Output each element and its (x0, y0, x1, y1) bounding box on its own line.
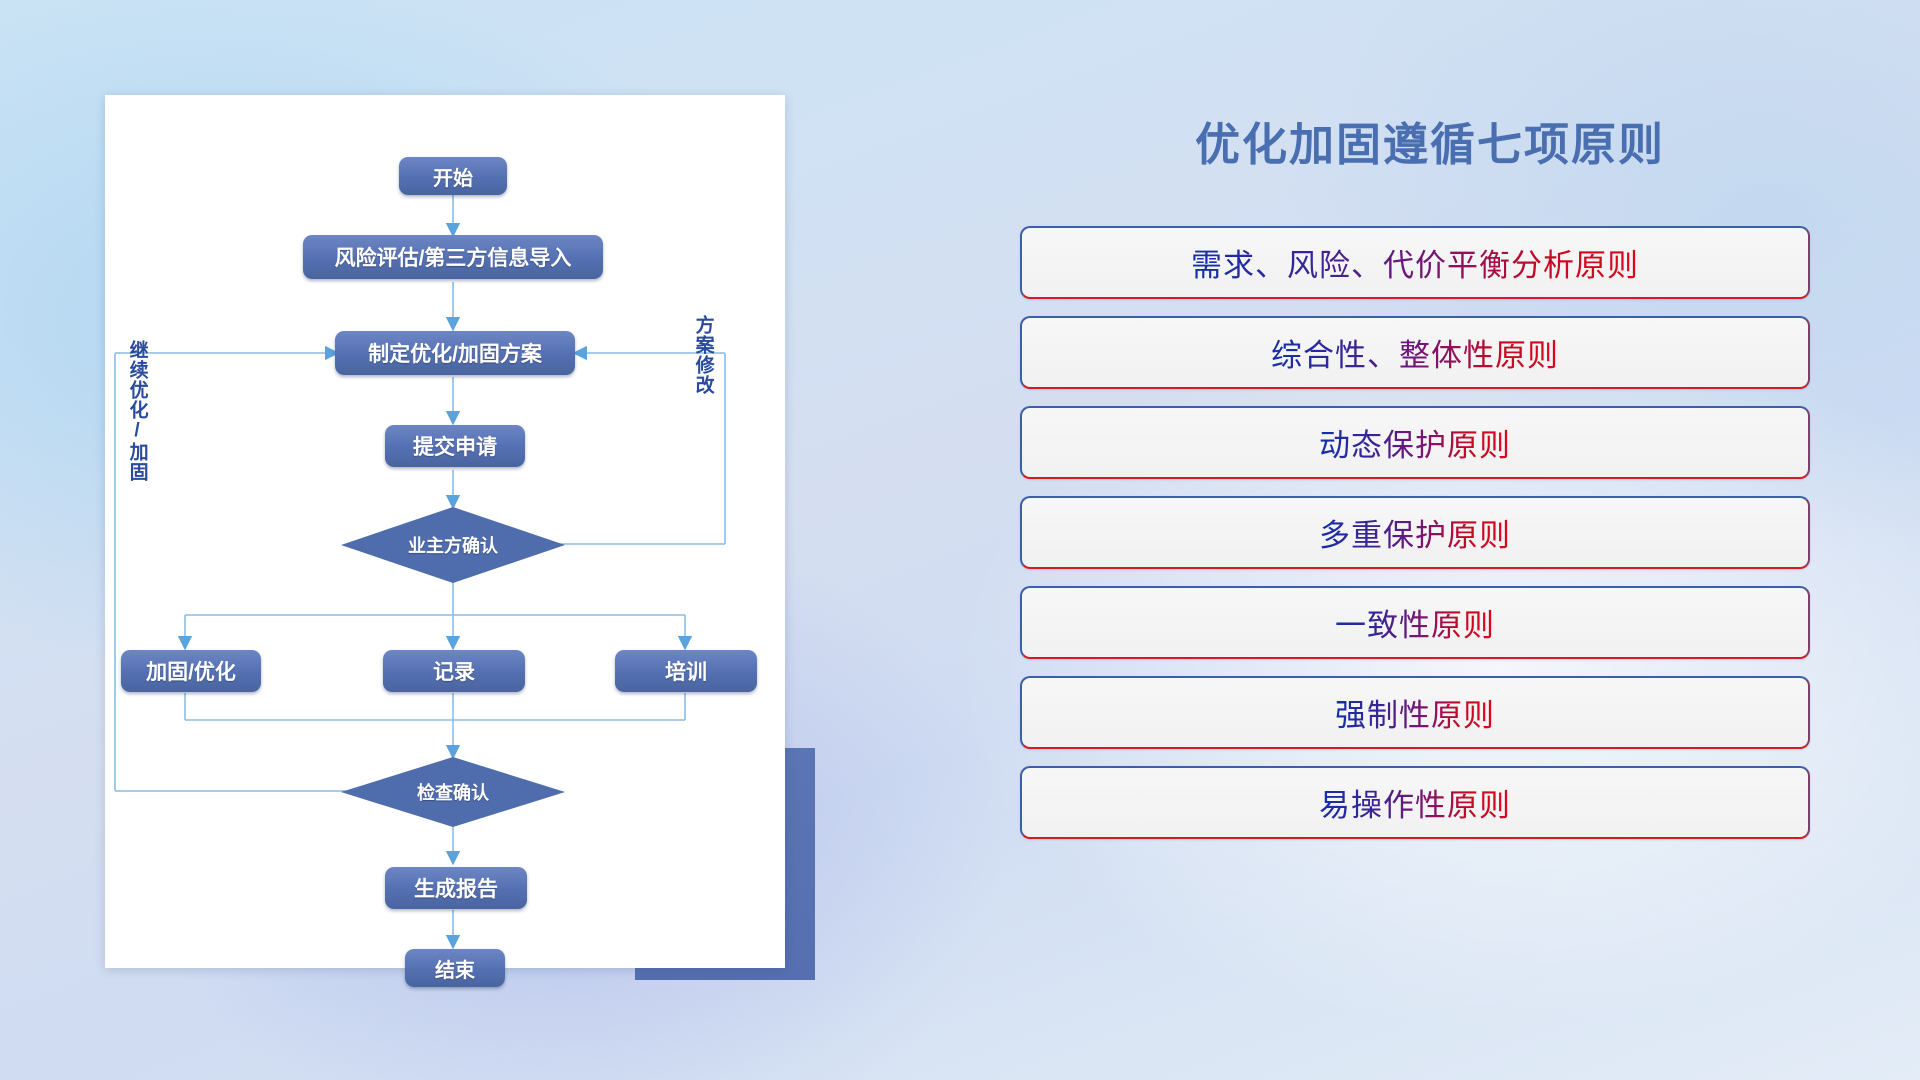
flow-node-generate-report[interactable]: 生成报告 (385, 867, 527, 909)
flow-node-reinforce-optimize[interactable]: 加固/优化 (121, 650, 261, 692)
flowchart-card: 继续优化/加固 方案修改 开始 风险评估/第三方信息导入 制定优化/加固方案 提… (105, 95, 785, 968)
principle-item-7[interactable]: 易操作性原则 (1020, 766, 1810, 839)
principle-label: 强制性原则 (1335, 690, 1495, 735)
principle-item-4[interactable]: 多重保护原则 (1020, 496, 1810, 569)
principles-panel: 优化加固遵循七项原则 需求、风险、代价平衡分析原则 综合性、整体性原则 动态保护… (1010, 0, 1920, 1080)
principles-list: 需求、风险、代价平衡分析原则 综合性、整体性原则 动态保护原则 多重保护原则 一… (1020, 226, 1810, 856)
flow-node-make-plan[interactable]: 制定优化/加固方案 (335, 331, 575, 375)
principle-item-1[interactable]: 需求、风险、代价平衡分析原则 (1020, 226, 1810, 299)
flow-node-risk-assessment[interactable]: 风险评估/第三方信息导入 (303, 235, 603, 279)
flow-node-training[interactable]: 培训 (615, 650, 757, 692)
flow-node-submit-application[interactable]: 提交申请 (385, 425, 525, 467)
principle-item-5[interactable]: 一致性原则 (1020, 586, 1810, 659)
flow-node-start[interactable]: 开始 (399, 157, 507, 195)
flow-node-check-confirm[interactable]: 检查确认 (341, 757, 565, 827)
flow-node-owner-confirm[interactable]: 业主方确认 (341, 507, 565, 583)
flow-label-left-loop: 继续优化/加固 (127, 340, 147, 482)
principle-item-6[interactable]: 强制性原则 (1020, 676, 1810, 749)
principle-label: 综合性、整体性原则 (1271, 330, 1559, 375)
flow-node-end[interactable]: 结束 (405, 949, 505, 987)
principle-label: 一致性原则 (1335, 600, 1495, 645)
principle-item-2[interactable]: 综合性、整体性原则 (1020, 316, 1810, 389)
principle-label: 多重保护原则 (1319, 510, 1511, 555)
principle-item-3[interactable]: 动态保护原则 (1020, 406, 1810, 479)
flow-node-record[interactable]: 记录 (383, 650, 525, 692)
principle-label: 易操作性原则 (1319, 780, 1511, 825)
principle-label: 需求、风险、代价平衡分析原则 (1191, 240, 1639, 285)
principles-title: 优化加固遵循七项原则 (1010, 108, 1850, 173)
flow-label-right-loop: 方案修改 (693, 315, 713, 395)
flowchart-panel: 继续优化/加固 方案修改 开始 风险评估/第三方信息导入 制定优化/加固方案 提… (0, 0, 880, 1080)
principle-label: 动态保护原则 (1319, 420, 1511, 465)
